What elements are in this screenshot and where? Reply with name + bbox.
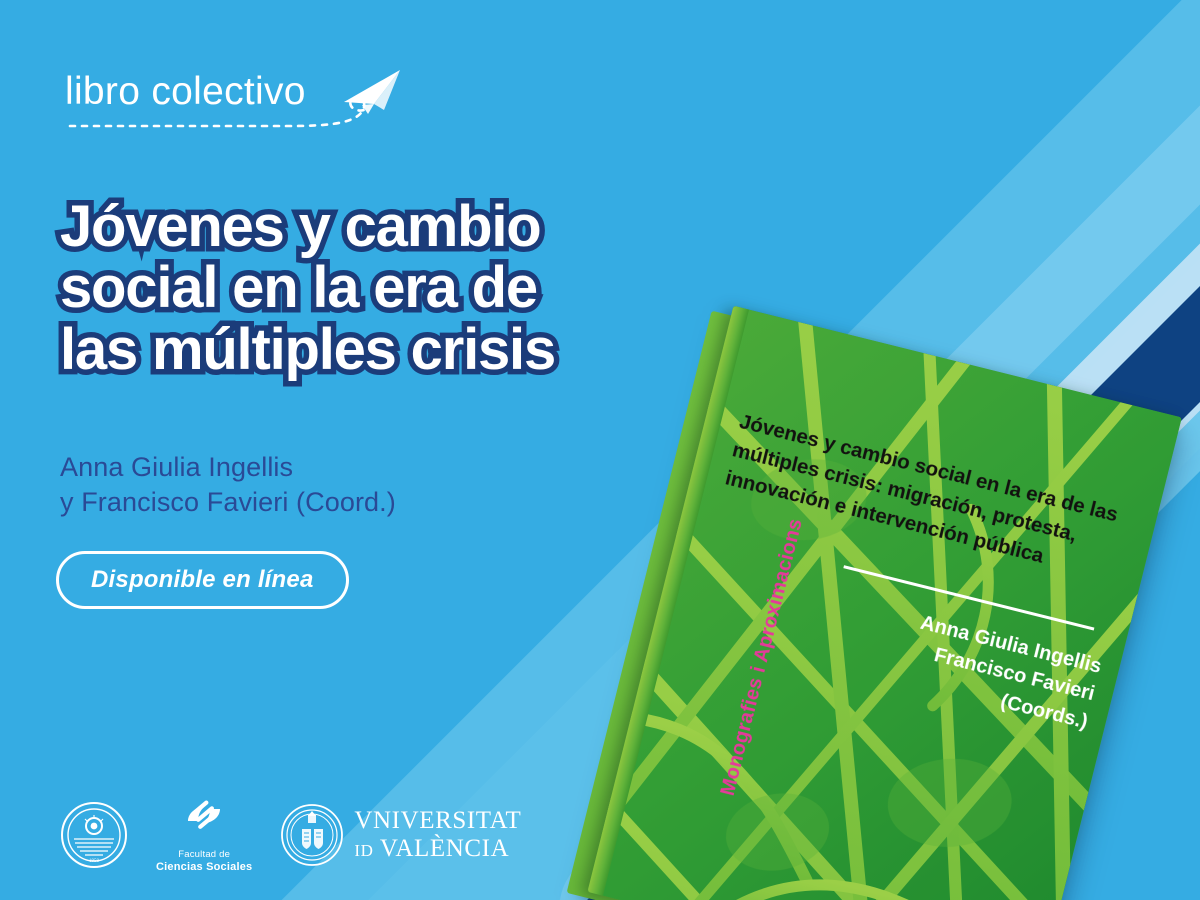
uv-wordmark: VNIVERSITAT ID VALÈNCIA [354, 807, 521, 862]
headline-line-1: Jóvenes y cambio [60, 196, 720, 257]
promotional-banner: libro colectivo Jóvenes y cambio social … [0, 0, 1200, 900]
dashed-trail-icon [70, 97, 364, 126]
brand-graphic [62, 58, 422, 148]
uv-wordmark-valencia: VALÈNCIA [380, 835, 509, 862]
page-title: Jóvenes y cambio social en la era de las… [60, 196, 720, 380]
author-line-2: y Francisco Favieri (Coord.) [60, 485, 396, 520]
brand-logo[interactable]: libro colectivo [62, 58, 422, 148]
logo-universitat-valencia: VNIVERSITAT ID VALÈNCIA [280, 803, 521, 867]
uv-wordmark-de: ID [354, 841, 373, 860]
svg-text:1958: 1958 [89, 859, 100, 864]
faculty-label: Facultad de Ciencias Sociales [156, 849, 252, 875]
headline-line-2: social en la era de [60, 257, 720, 318]
logo-facultad-ciencias-sociales: Facultad de Ciencias Sociales [156, 795, 252, 875]
headline-line-3: las múltiples crisis [60, 319, 720, 380]
faculty-label-line-2: Ciencias Sociales [156, 861, 252, 875]
uv-wordmark-line-1: VNIVERSITAT [354, 807, 521, 835]
faculty-emblem-icon [182, 795, 226, 835]
university-seal-icon: 1958 [60, 801, 128, 869]
uv-wordmark-line-2: ID VALÈNCIA [354, 835, 521, 863]
available-online-button[interactable]: Disponible en línea [56, 551, 349, 609]
footer-logos: 1958 Facultad de Ciencias Sociales [60, 795, 521, 875]
faculty-label-line-1: Facultad de [156, 849, 252, 861]
uv-seal-icon [280, 803, 344, 867]
author-line-1: Anna Giulia Ingellis [60, 450, 396, 485]
logo-unmdp: 1958 [60, 801, 128, 869]
author-credits: Anna Giulia Ingellis y Francisco Favieri… [60, 450, 396, 519]
